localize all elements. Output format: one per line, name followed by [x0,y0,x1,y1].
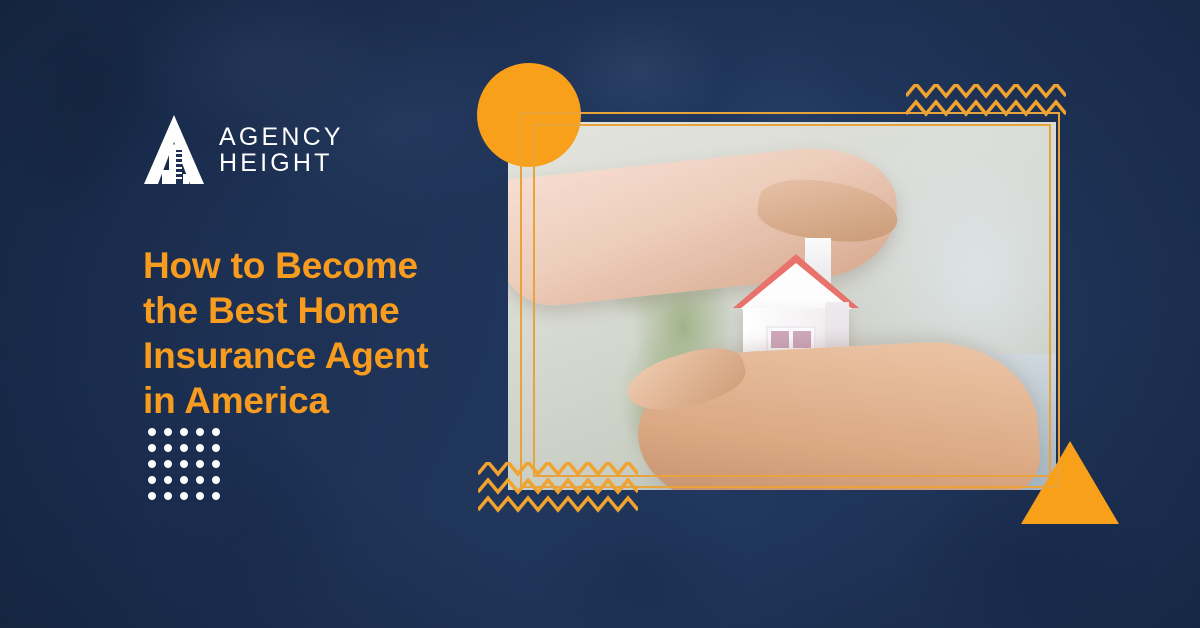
dot-grid-decoration [148,428,228,508]
headline-line-4: in America [143,378,503,423]
feature-photo [508,122,1056,490]
orange-circle-decoration [477,63,581,167]
agency-height-triangle-building-logo-icon [143,114,205,186]
social-share-banner: AGENCY HEIGHT How to Become the Best Hom… [0,0,1200,628]
headline-line-3: Insurance Agent [143,333,503,378]
zigzag-top-right-icon [906,84,1066,128]
orange-triangle-decoration [1021,441,1119,524]
brand-logo[interactable]: AGENCY HEIGHT [143,114,344,186]
headline-line-1: How to Become [143,243,503,288]
brand-name-line-2: HEIGHT [219,150,344,176]
page-title: How to Become the Best Home Insurance Ag… [143,243,503,423]
brand-wordmark: AGENCY HEIGHT [219,124,344,176]
brand-name-line-1: AGENCY [219,124,344,150]
headline-line-2: the Best Home [143,288,503,333]
zigzag-bottom-left-icon [478,462,638,524]
